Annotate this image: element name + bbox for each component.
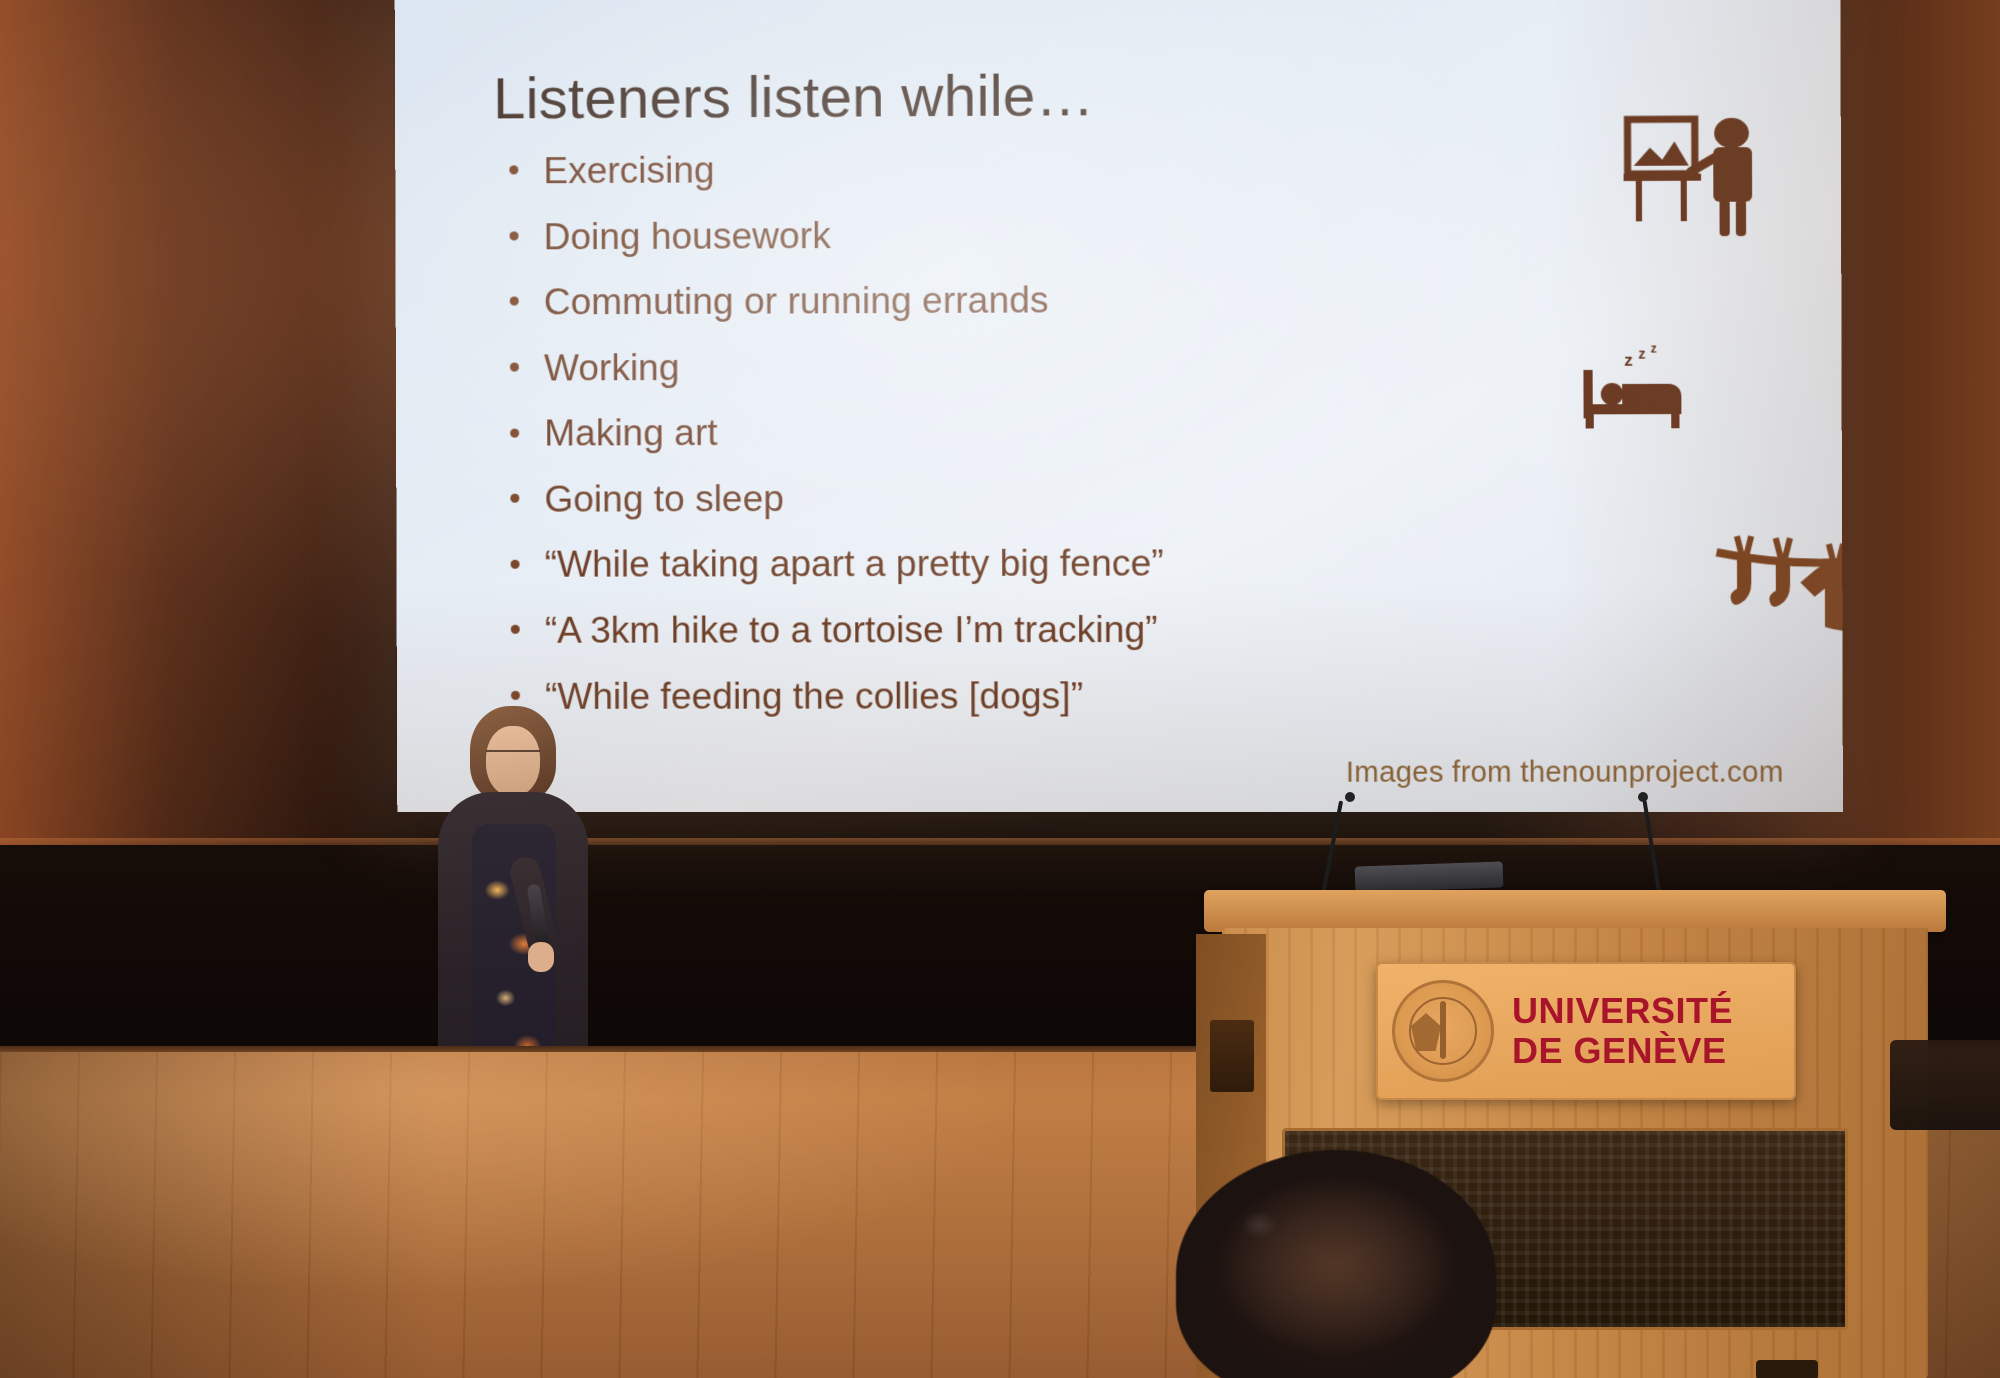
- list-item: “While feeding the collies [dogs]”: [503, 670, 1523, 737]
- seal-eagle-shape: [1411, 1013, 1441, 1051]
- svg-text:z: z: [1624, 351, 1633, 370]
- bullet-dot-icon: [511, 625, 520, 634]
- svg-text:z: z: [1638, 346, 1645, 362]
- glasses-icon: [486, 750, 540, 763]
- bullet-text: Doing housework: [544, 215, 831, 257]
- lectern-slot: [1210, 1020, 1254, 1092]
- slide-title: Listeners listen while…: [493, 58, 1788, 133]
- list-item: Doing housework: [501, 207, 1521, 277]
- lectern-foot-right: [1756, 1360, 1818, 1378]
- audience-member-head: [1176, 1150, 1496, 1378]
- bullet-dot-icon: [511, 559, 520, 568]
- image-credit: Images from thenounproject.com: [1346, 756, 1784, 789]
- svg-text:z: z: [1651, 343, 1657, 355]
- bullet-dot-icon: [510, 428, 519, 437]
- bullet-dot-icon: [510, 363, 519, 372]
- bullet-dot-icon: [510, 494, 519, 503]
- easel-painter-icon: [1621, 113, 1774, 245]
- auditorium-chair: [1890, 1040, 2000, 1130]
- university-seal-icon: [1392, 980, 1494, 1082]
- list-item: Going to sleep: [502, 472, 1522, 540]
- microphone-head-icon: [1345, 792, 1355, 802]
- list-item: “A 3km hike to a tortoise I’m tracking”: [503, 604, 1523, 671]
- list-item: Commuting or running errands: [502, 274, 1522, 344]
- bullet-dot-icon: [509, 166, 518, 175]
- bullet-dot-icon: [511, 691, 520, 700]
- projection-screen: Listeners listen while… Exercising Doing…: [396, 0, 1826, 812]
- list-item: Making art: [502, 406, 1522, 475]
- bullet-text: Exercising: [543, 149, 714, 191]
- bullet-text: “While feeding the collies [dogs]”: [545, 675, 1083, 717]
- bed-sleeping-icon: z z z: [1581, 343, 1704, 430]
- microphone-head-icon: [1638, 792, 1648, 802]
- bullet-text: “A 3km hike to a tortoise I’m tracking”: [545, 609, 1158, 651]
- plaque-line-1: UNIVERSITÉ: [1512, 991, 1733, 1031]
- bullet-text: Commuting or running errands: [544, 279, 1049, 322]
- bullet-dot-icon: [510, 231, 519, 240]
- university-plaque-text: UNIVERSITÉ DE GENÈVE: [1512, 991, 1733, 1072]
- clothesline-icon: [1714, 530, 1843, 677]
- list-item: “While taking apart a pretty big fence”: [502, 538, 1522, 606]
- bullet-text: Going to sleep: [544, 478, 784, 520]
- slide-bullet-list: Exercising Doing housework Commuting or …: [501, 141, 1522, 737]
- plaque-line-2: DE GENÈVE: [1512, 1031, 1733, 1071]
- wall-light-left: [0, 0, 430, 880]
- bullet-text: Working: [544, 347, 680, 389]
- lectern-top-surface: [1204, 890, 1946, 932]
- conference-photo-scene: Listeners listen while… Exercising Doing…: [0, 0, 2000, 1378]
- university-plaque: UNIVERSITÉ DE GENÈVE: [1376, 962, 1796, 1100]
- bullet-dot-icon: [510, 297, 519, 306]
- presentation-slide: Listeners listen while… Exercising Doing…: [395, 0, 1843, 812]
- speaker-hand: [528, 942, 554, 972]
- list-item: Exercising: [501, 141, 1521, 212]
- lectern-laptop: [1355, 861, 1504, 892]
- bullet-text: Making art: [544, 412, 717, 454]
- bullet-text: “While taking apart a pretty big fence”: [545, 543, 1164, 585]
- seal-key-shape: [1440, 1001, 1446, 1059]
- list-item: Working: [502, 340, 1522, 409]
